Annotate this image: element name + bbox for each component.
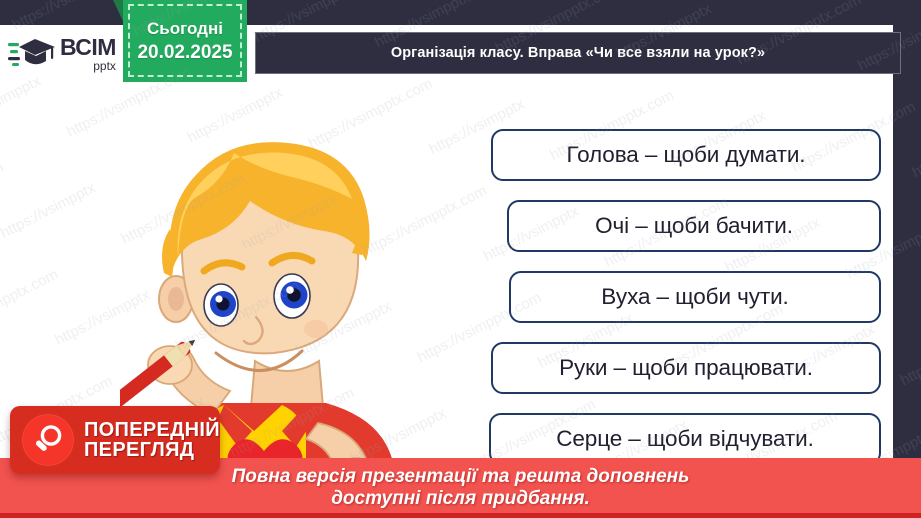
statement-text: Руки – щоби працювати. <box>559 355 813 381</box>
vsim-pptx-logo: ВСІМ pptx <box>8 30 128 78</box>
statement-item: Руки – щоби працювати. <box>491 342 881 394</box>
logo-wordmark: ВСІМ pptx <box>60 36 116 72</box>
statement-item: Очі – щоби бачити. <box>507 200 881 252</box>
graduation-cap-icon <box>8 34 56 74</box>
slide-header-bar: Організація класу. Вправа «Чи все взяли … <box>255 32 901 74</box>
logo-title: ВСІМ <box>60 36 116 59</box>
statement-item: Голова – щоби думати. <box>491 129 881 181</box>
statement-text: Вуха – щоби чути. <box>601 284 788 310</box>
logo-subtitle: pptx <box>60 60 116 72</box>
statement-item: Вуха – щоби чути. <box>509 271 881 323</box>
statement-text: Голова – щоби думати. <box>567 142 806 168</box>
date-badge-label: Сьогодні <box>147 19 223 39</box>
preview-badge-labels: ПОПЕРЕДНІЙ ПЕРЕГЛЯД <box>84 420 220 461</box>
date-badge-body: Сьогодні 20.02.2025 <box>123 0 247 82</box>
preview-badge: ПОПЕРЕДНІЙ ПЕРЕГЛЯД <box>10 406 220 474</box>
statements-list: Голова – щоби думати. Очі – щоби бачити.… <box>489 129 881 484</box>
magnifier-icon <box>22 414 74 466</box>
statement-text: Очі – щоби бачити. <box>595 213 793 239</box>
preview-badge-line-2: ПЕРЕГЛЯД <box>84 440 220 460</box>
preview-badge-line-1: ПОПЕРЕДНІЙ <box>84 420 220 440</box>
today-date-badge: Сьогодні 20.02.2025 <box>113 0 247 86</box>
date-badge-value: 20.02.2025 <box>137 42 232 64</box>
page-title: Організація класу. Вправа «Чи все взяли … <box>391 45 765 61</box>
statement-text: Серце – щоби відчувати. <box>556 426 814 452</box>
banner-line-1: Повна версія презентації та решта доповн… <box>232 466 690 488</box>
slide-root: Голова – щоби думати. Очі – щоби бачити.… <box>0 0 921 518</box>
banner-line-2: доступні після придбання. <box>331 488 590 510</box>
